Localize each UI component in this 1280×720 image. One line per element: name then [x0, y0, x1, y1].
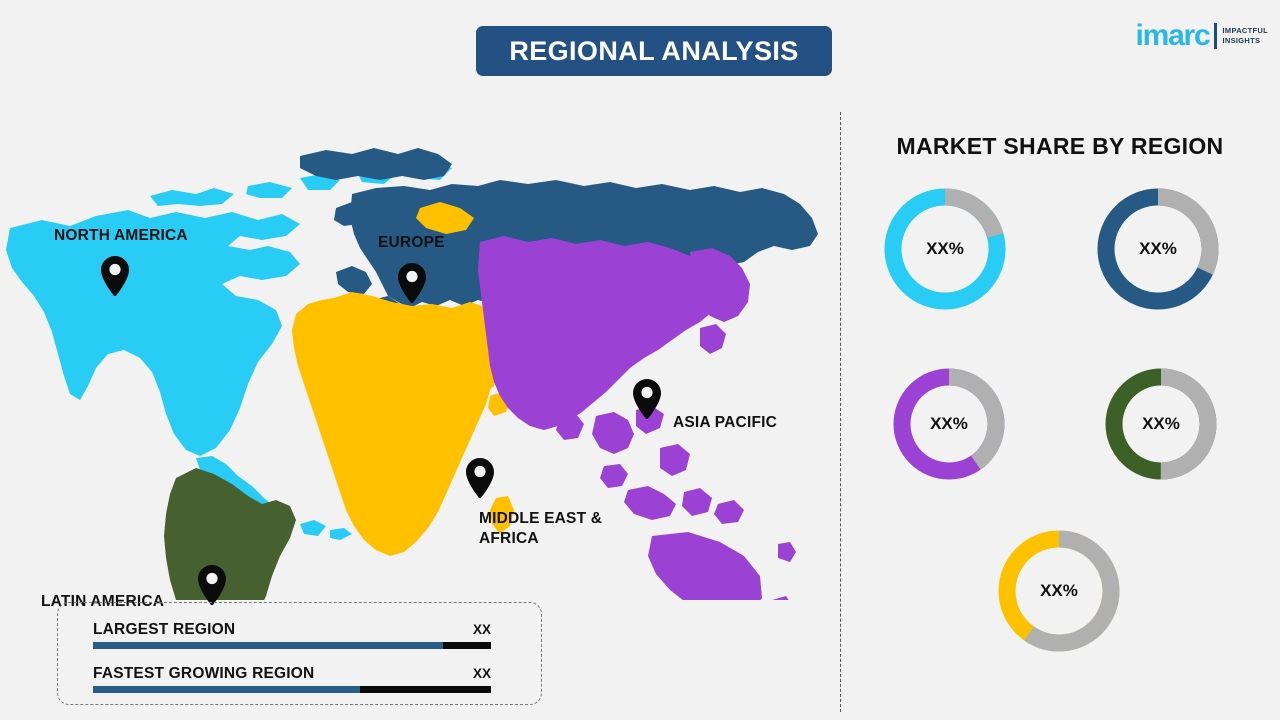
legend-bar-fill-largest-region: [93, 642, 443, 649]
legend-bar-largest-region: [93, 642, 491, 649]
market-share-title: MARKET SHARE BY REGION: [840, 133, 1280, 160]
legend-value-largest-region: XX: [473, 622, 491, 637]
legend-row-largest-region: LARGEST REGION XX: [93, 621, 491, 649]
donut-value-3: XX%: [1105, 368, 1217, 480]
donut-value-1: XX%: [1097, 188, 1219, 310]
legend-row-fastest-growing-region: FASTEST GROWING REGION XX: [93, 665, 491, 693]
donut-chart-4: XX%: [998, 530, 1120, 652]
legend-bar-fastest-growing-region: [93, 686, 491, 693]
region-summary-box: LARGEST REGION XX FASTEST GROWING REGION…: [57, 602, 542, 705]
donut-value-0: XX%: [884, 188, 1006, 310]
donut-chart-1: XX%: [1097, 188, 1219, 310]
logo-tagline: IMPACTFUL INSIGHTS: [1223, 26, 1268, 46]
imarc-logo: imarc IMPACTFUL INSIGHTS: [1135, 18, 1268, 54]
map-pin-north-america-icon[interactable]: [101, 256, 129, 296]
legend-label-fastest-growing-region: FASTEST GROWING REGION: [93, 665, 314, 683]
region-label-asia-pacific: ASIA PACIFIC: [673, 413, 777, 433]
logo-tagline-line1: IMPACTFUL: [1223, 26, 1268, 36]
donut-value-2: XX%: [893, 368, 1005, 480]
region-label-europe: EUROPE: [378, 233, 445, 253]
logo-wordmark: imarc: [1135, 21, 1209, 51]
page-title-banner: REGIONAL ANALYSIS: [476, 26, 832, 76]
donut-chart-0: XX%: [884, 188, 1006, 310]
world-map-graphic: [0, 100, 830, 600]
map-region-latin-america: [164, 468, 296, 600]
map-pin-europe-icon[interactable]: [398, 263, 426, 303]
donut-chart-3: XX%: [1105, 368, 1217, 480]
legend-bar-fill-fastest-growing-region: [93, 686, 360, 693]
section-divider: [840, 112, 841, 712]
logo-divider-bar: [1214, 23, 1217, 49]
map-pin-latin-america-icon[interactable]: [198, 565, 226, 605]
donut-chart-2: XX%: [893, 368, 1005, 480]
legend-value-fastest-growing-region: XX: [473, 666, 491, 681]
map-pin-asia-pacific-icon[interactable]: [633, 379, 661, 419]
page-title: REGIONAL ANALYSIS: [509, 36, 798, 67]
donut-value-4: XX%: [998, 530, 1120, 652]
map-pin-middle-east-africa-icon[interactable]: [466, 458, 494, 498]
legend-label-largest-region: LARGEST REGION: [93, 621, 235, 639]
region-label-middle-east-africa: MIDDLE EAST & AFRICA: [479, 509, 602, 549]
world-map-panel: NORTH AMERICA EUROPE ASIA PACIFIC MIDDLE…: [0, 100, 830, 600]
region-label-north-america: NORTH AMERICA: [54, 226, 188, 246]
logo-tagline-line2: INSIGHTS: [1223, 36, 1268, 46]
